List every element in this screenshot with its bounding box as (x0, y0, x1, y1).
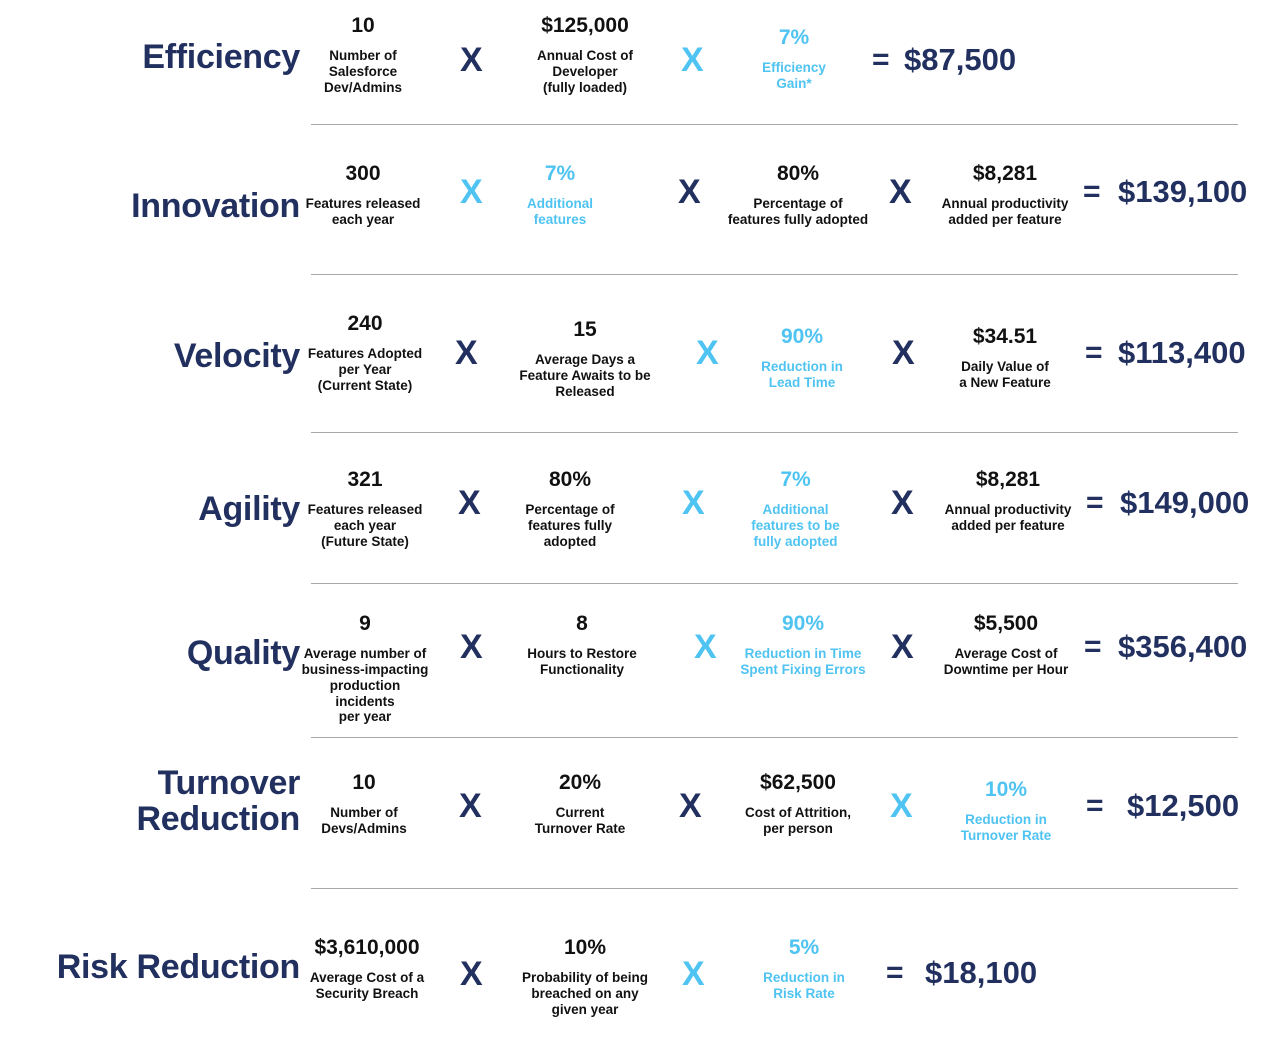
operator-equals: = (1085, 338, 1103, 368)
operator-multiply: X (460, 175, 483, 209)
equation-efficiency: 10 Number of Salesforce Dev/Admins X $12… (300, 14, 1274, 124)
factor-value: $62,500 (712, 771, 884, 796)
operator-multiply: X (890, 789, 913, 823)
factor-value: $3,610,000 (300, 936, 434, 961)
row-turnover-reduction: Turnover Reduction 10 Number of Devs/Adm… (0, 766, 1274, 886)
operator-multiply: X (889, 175, 912, 209)
operator-multiply: X (694, 630, 717, 664)
factor-caption: Reduction in Time Spent Fixing Errors (722, 646, 884, 678)
factor-caption: Features released each year (299, 196, 427, 228)
factor-efficiency-1: 10 Number of Salesforce Dev/Admins (303, 14, 423, 96)
operator-equals: = (1084, 632, 1102, 662)
factor-caption: Number of Devs/Admins (303, 805, 425, 837)
factor-quality-2: 8 Hours to Restore Functionality (497, 612, 667, 678)
factor-caption: Hours to Restore Functionality (497, 646, 667, 678)
operator-multiply: X (458, 486, 481, 520)
operator-multiply: X (460, 630, 483, 664)
factor-caption: Average Cost of a Security Breach (300, 970, 434, 1002)
factor-caption: Average Cost of Downtime per Hour (921, 646, 1091, 678)
operator-multiply: X (891, 630, 914, 664)
factor-value: 321 (302, 468, 428, 493)
factor-value: 5% (734, 936, 874, 961)
row-divider (311, 274, 1238, 275)
factor-turnover-3: $62,500 Cost of Attrition, per person (712, 771, 884, 837)
factor-quality-1: 9 Average number of business-impacting p… (300, 612, 430, 725)
row-divider (311, 124, 1238, 125)
operator-multiply: X (696, 336, 719, 370)
row-innovation: Innovation 300 Features released each ye… (0, 162, 1274, 272)
factor-caption: Percentage of features fully adopted (508, 502, 632, 550)
row-divider (311, 583, 1238, 584)
row-divider (311, 888, 1238, 889)
factor-value: 90% (722, 612, 884, 637)
factor-caption: Features released each year (Future Stat… (302, 502, 428, 550)
factor-turnover-4: 10% Reduction in Turnover Rate (934, 778, 1078, 844)
operator-equals: = (886, 958, 904, 988)
row-label-quality: Quality (0, 612, 300, 672)
factor-innovation-3: 80% Percentage of features fully adopted (712, 162, 884, 228)
factor-velocity-2: 15 Average Days a Feature Awaits to be R… (497, 318, 673, 400)
equation-innovation: 300 Features released each year X 7% Add… (300, 162, 1274, 272)
factor-caption: Additional features (505, 196, 615, 228)
factor-value: 7% (505, 162, 615, 187)
equation-agility: 321 Features released each year (Future … (300, 468, 1274, 586)
factor-risk-2: 10% Probability of being breached on any… (500, 936, 670, 1018)
row-divider (311, 737, 1238, 738)
factor-turnover-1: 10 Number of Devs/Admins (303, 771, 425, 837)
factor-innovation-4: $8,281 Annual productivity added per fea… (920, 162, 1090, 228)
operator-multiply: X (455, 336, 478, 370)
operator-multiply: X (678, 175, 701, 209)
factor-agility-4: $8,281 Annual productivity added per fea… (922, 468, 1094, 534)
factor-value: 7% (728, 468, 863, 493)
factor-caption: Reduction in Risk Rate (734, 970, 874, 1002)
factor-value: 10% (500, 936, 670, 961)
factor-value: 7% (728, 26, 860, 51)
operator-multiply: X (679, 789, 702, 823)
operator-multiply: X (460, 957, 483, 991)
factor-value: 80% (508, 468, 632, 493)
result-efficiency: $87,500 (904, 44, 1016, 75)
factor-velocity-3: 90% Reduction in Lead Time (732, 325, 872, 391)
factor-value: 15 (497, 318, 673, 343)
factor-caption: Features Adopted per Year (Current State… (303, 346, 427, 394)
factor-risk-3: 5% Reduction in Risk Rate (734, 936, 874, 1002)
operator-multiply: X (682, 486, 705, 520)
result-innovation: $139,100 (1118, 176, 1247, 207)
operator-equals: = (1083, 177, 1101, 207)
factor-value: 300 (299, 162, 427, 187)
row-agility: Agility 321 Features released each year … (0, 468, 1274, 586)
row-label-risk-reduction: Risk Reduction (0, 928, 300, 986)
factor-caption: Daily Value of a New Feature (925, 359, 1085, 391)
factor-efficiency-2: $125,000 Annual Cost of Developer (fully… (502, 14, 668, 96)
factor-value: 8 (497, 612, 667, 637)
factor-caption: Average number of business-impacting pro… (300, 646, 430, 726)
row-velocity: Velocity 240 Features Adopted per Year (… (0, 312, 1274, 430)
factor-quality-3: 90% Reduction in Time Spent Fixing Error… (722, 612, 884, 678)
factor-caption: Current Turnover Rate (502, 805, 658, 837)
factor-value: $5,500 (921, 612, 1091, 637)
factor-value: $34.51 (925, 325, 1085, 350)
factor-agility-3: 7% Additional features to be fully adopt… (728, 468, 863, 550)
result-velocity: $113,400 (1118, 337, 1246, 368)
row-label-agility: Agility (0, 468, 300, 528)
factor-value: 80% (712, 162, 884, 187)
factor-innovation-1: 300 Features released each year (299, 162, 427, 228)
operator-multiply: X (681, 43, 704, 77)
factor-caption: Annual Cost of Developer (fully loaded) (502, 48, 668, 96)
factor-caption: Probability of being breached on any giv… (500, 970, 670, 1018)
result-quality: $356,400 (1118, 631, 1247, 662)
factor-caption: Average Days a Feature Awaits to be Rele… (497, 352, 673, 400)
row-quality: Quality 9 Average number of business-imp… (0, 612, 1274, 742)
equation-risk-reduction: $3,610,000 Average Cost of a Security Br… (300, 928, 1274, 1038)
row-efficiency: Efficiency 10 Number of Salesforce Dev/A… (0, 14, 1274, 124)
operator-equals: = (1086, 488, 1104, 518)
factor-caption: Percentage of features fully adopted (712, 196, 884, 228)
operator-equals: = (1086, 791, 1104, 821)
operator-multiply: X (459, 789, 482, 823)
row-label-efficiency: Efficiency (0, 14, 300, 76)
operator-multiply: X (892, 336, 915, 370)
row-risk-reduction: Risk Reduction $3,610,000 Average Cost o… (0, 928, 1274, 1038)
equation-velocity: 240 Features Adopted per Year (Current S… (300, 312, 1274, 430)
factor-velocity-1: 240 Features Adopted per Year (Current S… (303, 312, 427, 394)
factor-value: 10 (303, 771, 425, 796)
factor-quality-4: $5,500 Average Cost of Downtime per Hour (921, 612, 1091, 678)
equation-turnover-reduction: 10 Number of Devs/Admins X 20% Current T… (300, 766, 1274, 886)
factor-velocity-4: $34.51 Daily Value of a New Feature (925, 325, 1085, 391)
row-divider (311, 432, 1238, 433)
factor-caption: Additional features to be fully adopted (728, 502, 863, 550)
factor-agility-1: 321 Features released each year (Future … (302, 468, 428, 550)
result-risk-reduction: $18,100 (925, 957, 1037, 988)
row-label-turnover-reduction: Turnover Reduction (0, 766, 300, 837)
factor-efficiency-3: 7% Efficiency Gain* (728, 26, 860, 92)
factor-value: 10 (303, 14, 423, 39)
factor-risk-1: $3,610,000 Average Cost of a Security Br… (300, 936, 434, 1002)
factor-innovation-2: 7% Additional features (505, 162, 615, 228)
factor-caption: Reduction in Turnover Rate (934, 812, 1078, 844)
factor-caption: Reduction in Lead Time (732, 359, 872, 391)
factor-caption: Cost of Attrition, per person (712, 805, 884, 837)
factor-caption: Annual productivity added per feature (920, 196, 1090, 228)
row-label-innovation: Innovation (0, 162, 300, 225)
result-turnover-reduction: $12,500 (1127, 790, 1239, 821)
factor-agility-2: 80% Percentage of features fully adopted (508, 468, 632, 550)
factor-turnover-2: 20% Current Turnover Rate (502, 771, 658, 837)
equation-quality: 9 Average number of business-impacting p… (300, 612, 1274, 742)
operator-multiply: X (460, 43, 483, 77)
factor-value: 10% (934, 778, 1078, 803)
factor-caption: Efficiency Gain* (728, 60, 860, 92)
factor-value: 20% (502, 771, 658, 796)
operator-multiply: X (891, 486, 914, 520)
factor-value: $125,000 (502, 14, 668, 39)
factor-value: $8,281 (920, 162, 1090, 187)
factor-caption: Number of Salesforce Dev/Admins (303, 48, 423, 96)
factor-value: 240 (303, 312, 427, 337)
factor-caption: Annual productivity added per feature (922, 502, 1094, 534)
operator-multiply: X (682, 957, 705, 991)
factor-value: 9 (300, 612, 430, 637)
row-label-velocity: Velocity (0, 312, 300, 375)
operator-equals: = (872, 45, 890, 75)
roi-value-driver-board: Efficiency 10 Number of Salesforce Dev/A… (0, 0, 1274, 1042)
factor-value: $8,281 (922, 468, 1094, 493)
result-agility: $149,000 (1120, 487, 1249, 518)
factor-value: 90% (732, 325, 872, 350)
